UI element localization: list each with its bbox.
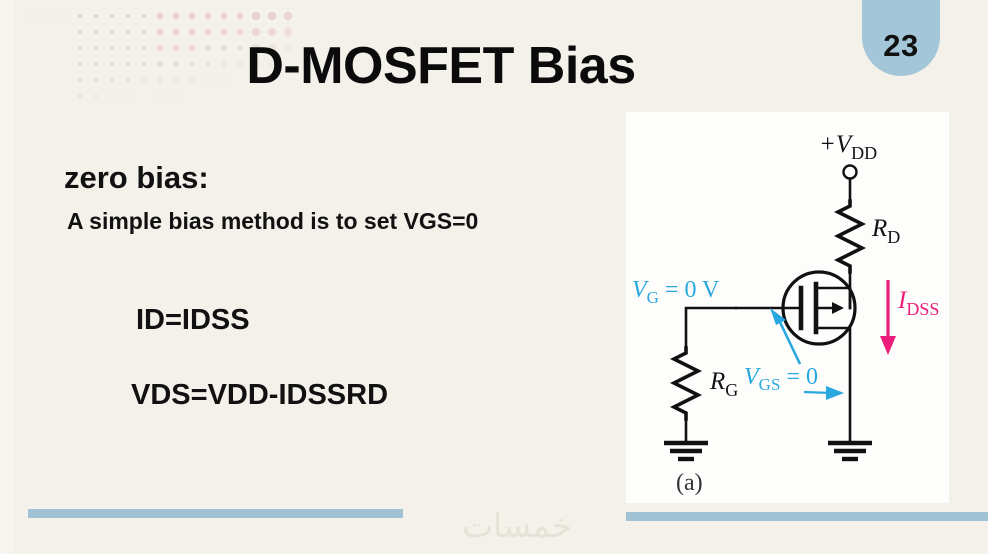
dot [31,15,33,17]
dot [205,29,211,35]
dot [252,28,259,35]
dot [78,30,81,33]
dot [237,13,244,20]
dot [126,110,130,114]
slide-title: D-MOSFET Bias [14,36,988,96]
dot [142,14,147,19]
label-vg-zero: VG = 0 V [632,277,720,307]
dot [173,29,178,34]
dot [78,110,81,113]
zero-bias-circuit-svg: +VDD RD RG VG = 0 V VGS = 0 IDSS [626,112,949,503]
dot [284,12,292,20]
equation-drain-source-voltage: VDS=VDD-IDSSRD [131,379,388,412]
ground-symbol-gate [664,443,708,459]
dot [221,13,227,19]
resistor-rd-symbol [838,201,862,272]
dot [157,29,162,34]
section-heading-zero-bias: zero bias: [64,160,209,196]
accent-bar-left [28,509,403,518]
mosfet-substrate-arrowhead [832,302,844,314]
section-description: A simple bias method is to set VGS=0 [67,208,478,235]
slide-canvas: 23 D-MOSFET Bias zero bias: A simple bia… [0,0,988,554]
dot [157,13,162,18]
dot [189,29,195,35]
equation-drain-current: ID=IDSS [136,304,250,337]
dot [47,111,50,114]
dot [94,30,98,34]
dot [252,12,259,19]
figure-caption: (a) [676,470,703,496]
dot [268,28,276,36]
dot [189,13,195,19]
dot [284,28,292,36]
label-vdd: +VDD [819,131,877,163]
dot [110,110,114,114]
dot [142,110,147,115]
accent-bar-right [626,512,988,521]
dot [126,30,130,34]
resistor-rg-symbol [674,348,698,419]
label-vgs-zero: VGS = 0 [744,364,818,394]
dot [31,111,33,113]
dot [63,111,66,114]
wire-gate-to-rg [686,308,736,348]
current-arrow-idss [880,280,896,355]
dot [31,31,33,33]
dot [63,31,66,34]
vdd-terminal-node [844,166,857,179]
dot [94,110,98,114]
dot [205,13,211,19]
label-rg: RG [709,368,738,400]
ground-symbol-source [828,443,872,459]
circuit-diagram-panel: +VDD RD RG VG = 0 V VGS = 0 IDSS [626,112,949,503]
dot [221,29,227,35]
watermark-text: خمسات [412,506,622,545]
dot [110,30,114,34]
dot [78,14,81,17]
dot [126,14,130,18]
dot [268,12,276,20]
dot [142,30,147,35]
label-rd: RD [871,215,900,247]
dot [47,15,50,18]
label-idss: IDSS [897,287,939,319]
dot [47,31,50,34]
dot [110,14,114,18]
dot [173,13,178,18]
dot [63,15,66,18]
dot [237,29,244,36]
dot [94,14,98,18]
